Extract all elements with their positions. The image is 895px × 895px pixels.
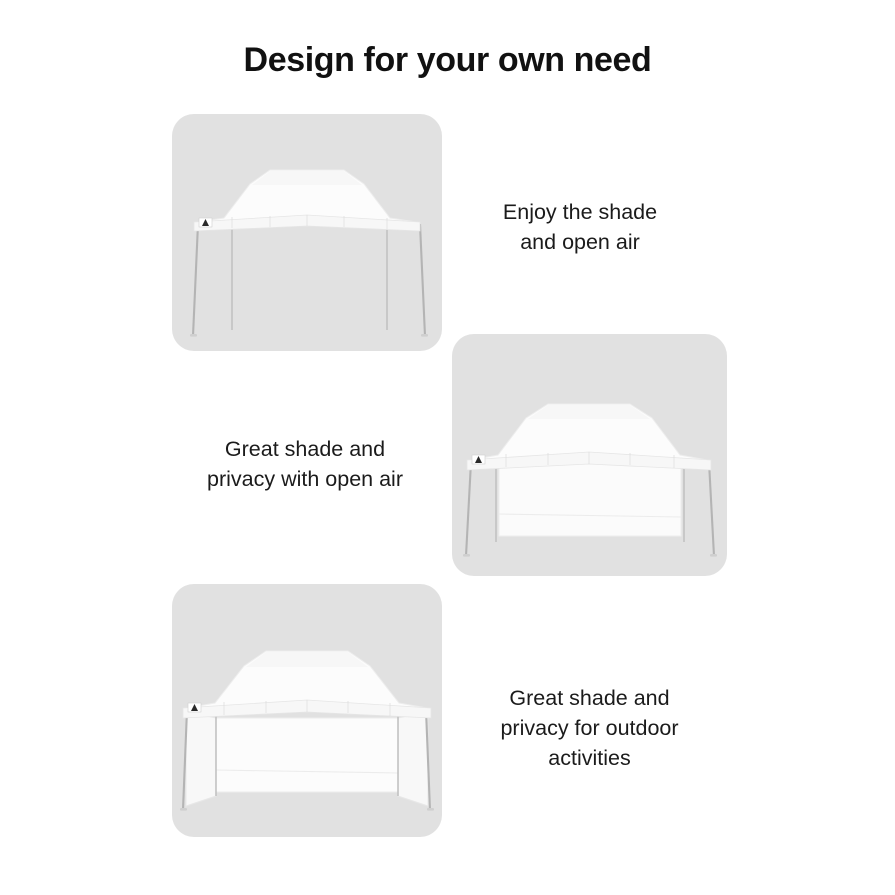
gazebo-three-walls-illustration <box>172 584 442 837</box>
right-side-wall-panel <box>398 712 428 806</box>
gazebo-no-walls-image <box>172 114 442 351</box>
left-side-wall-panel <box>186 712 216 806</box>
gazebo-one-wall-illustration <box>452 334 727 576</box>
brand-logo-icon <box>188 703 201 712</box>
caption-privacy-outdoor: Great shade and privacy for outdoor acti… <box>452 683 727 773</box>
brand-logo-icon <box>472 455 485 464</box>
brand-logo-icon <box>199 218 212 227</box>
back-wall-panel <box>499 464 681 536</box>
page-title: Design for your own need <box>0 41 895 80</box>
caption-line: Great shade and <box>452 683 727 713</box>
caption-line: Great shade and <box>160 434 450 464</box>
caption-open-air: Enjoy the shade and open air <box>455 197 705 257</box>
gazebo-three-walls-image <box>172 584 442 837</box>
gazebo-one-wall-image <box>452 334 727 576</box>
caption-line: Enjoy the shade <box>455 197 705 227</box>
caption-line: activities <box>452 743 727 773</box>
back-wall-panel <box>216 718 398 792</box>
caption-line: privacy for outdoor <box>452 713 727 743</box>
caption-line: privacy with open air <box>160 464 450 494</box>
gazebo-no-walls-illustration <box>172 114 442 351</box>
caption-privacy-open-air: Great shade and privacy with open air <box>160 434 450 494</box>
caption-line: and open air <box>455 227 705 257</box>
